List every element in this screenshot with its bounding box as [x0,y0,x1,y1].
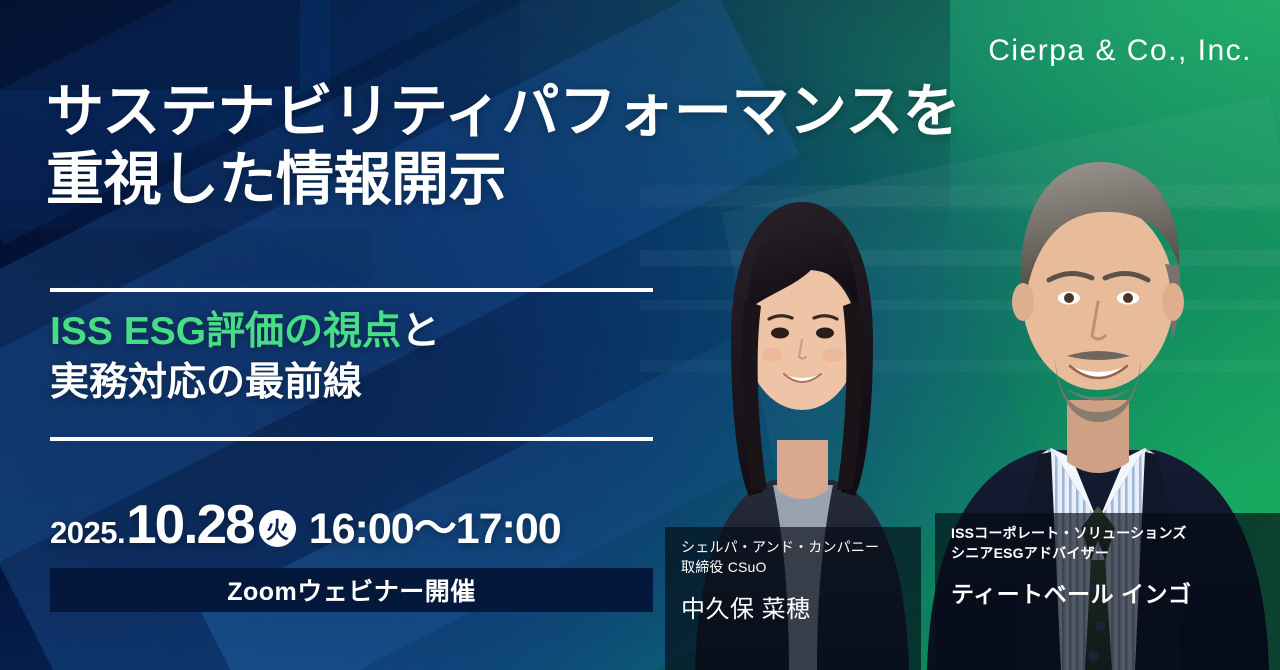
event-time: 16:00〜17:00 [309,494,561,556]
subtitle-accent-text: ISS ESG評価の視点 [50,310,401,353]
divider-top [50,288,653,292]
title-line-2: 重視した情報開示 [46,146,946,214]
subtitle-tail-text: と [401,310,440,353]
day-of-week-badge: 火 [259,510,296,547]
title-line-1: サステナビリティパフォーマンスを [46,78,946,146]
divider-bottom [50,437,653,441]
speaker-caption-left: シェルパ・アンド・カンパニー 取締役 CSuO 中久保 菜穂 [665,527,921,670]
speaker-left-role: 取締役 CSuO [681,557,907,577]
event-datetime: 2025. 10.28 火 16:00〜17:00 [50,492,561,556]
main-title: サステナビリティパフォーマンスを 重視した情報開示 [46,78,946,215]
speaker-right-org: ISSコーポレート・ソリューションズ [951,523,1266,543]
speaker-right-role: シニアESGアドバイザー [951,543,1266,563]
speaker-left-name: 中久保 菜穂 [681,589,907,624]
subtitle-line-1: ISS ESG評価の視点と [50,306,710,357]
speaker-caption-right: ISSコーポレート・ソリューションズ シニアESGアドバイザー ティートベール … [935,513,1280,670]
platform-bar: Zoomウェビナー開催 [50,568,653,612]
brand-name: Cierpa & Co., Inc. [988,34,1252,68]
event-date: 10.28 [126,492,254,556]
subtitle-line-2: 実務対応の最前線 [50,357,710,408]
webinar-banner: Cierpa & Co., Inc. サステナビリティパフォーマンスを 重視した… [0,0,1280,670]
platform-label: Zoomウェビナー開催 [227,572,476,608]
subtitle: ISS ESG評価の視点と 実務対応の最前線 [50,306,710,409]
event-year: 2025. [50,515,125,551]
speaker-right-name: ティートベール インゴ [951,575,1266,609]
speaker-left-org: シェルパ・アンド・カンパニー [681,537,907,557]
